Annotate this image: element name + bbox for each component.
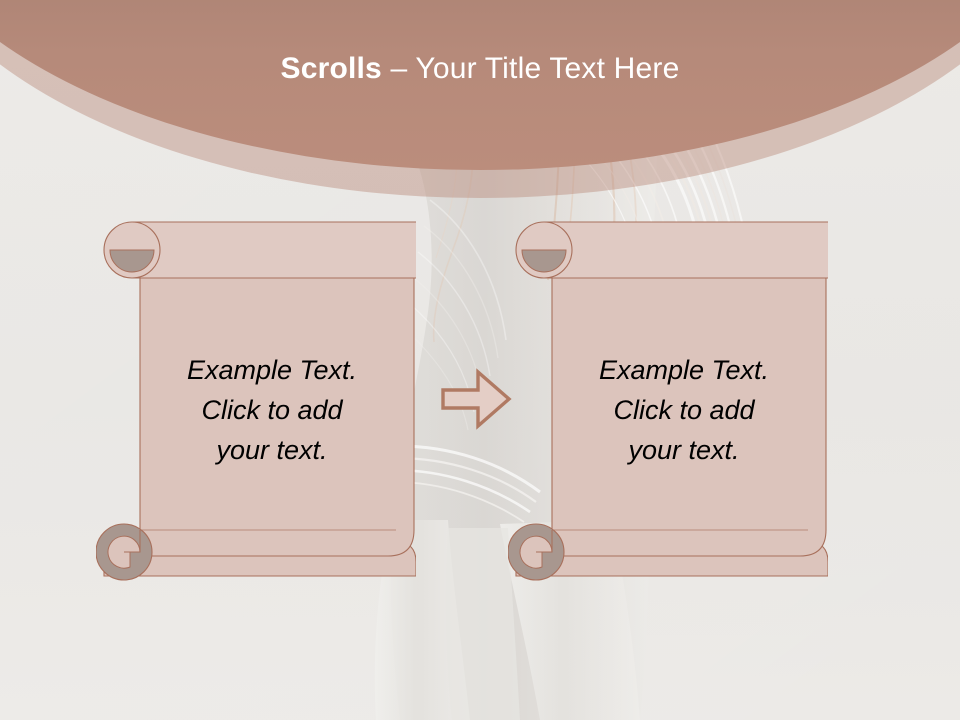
scroll-left-line-2: Click to add (142, 390, 402, 430)
page-title: Scrolls – Your Title Text Here (0, 52, 960, 86)
scroll-left-line-1: Example Text. (142, 350, 402, 390)
scroll-right-line-2: Click to add (554, 390, 814, 430)
scroll-left[interactable]: Example Text. Click to add your text. (96, 212, 416, 584)
scroll-right-line-1: Example Text. (554, 350, 814, 390)
scroll-left-text[interactable]: Example Text. Click to add your text. (142, 350, 402, 470)
scroll-left-line-3: your text. (142, 430, 402, 470)
arrow-right-icon[interactable] (440, 368, 512, 430)
arrow-right-glyph (440, 368, 512, 430)
slide-canvas: Scrolls – Your Title Text Here (0, 0, 960, 720)
scroll-right[interactable]: Example Text. Click to add your text. (508, 212, 828, 584)
scroll-right-line-3: your text. (554, 430, 814, 470)
scroll-right-text[interactable]: Example Text. Click to add your text. (554, 350, 814, 470)
page-title-separator: – (382, 52, 415, 85)
page-title-strong: Scrolls (280, 52, 381, 85)
page-title-rest: Your Title Text Here (415, 52, 679, 85)
